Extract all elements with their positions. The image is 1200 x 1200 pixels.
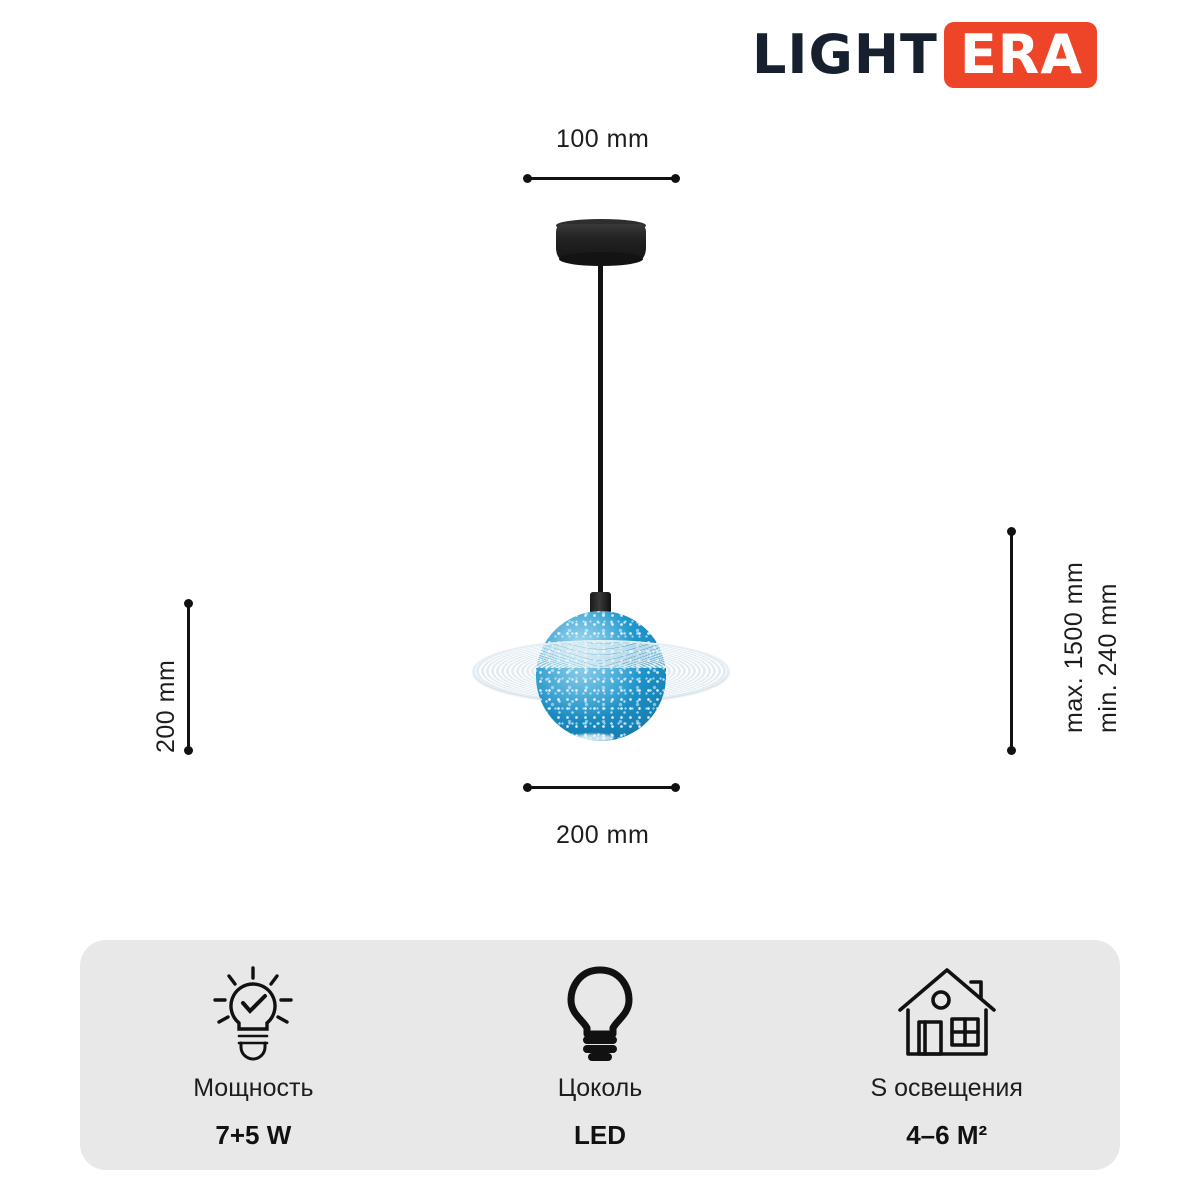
product-illustration xyxy=(0,0,1200,940)
spec-title-area: S освещения xyxy=(870,1074,1022,1103)
bulb-icon xyxy=(557,962,643,1062)
specifications-panel: Мощность 7+5 W Цоколь LED xyxy=(80,940,1120,1170)
spec-value-socket: LED xyxy=(574,1120,626,1151)
suspension-cord xyxy=(598,258,603,603)
spec-item-socket: Цоколь LED xyxy=(427,940,774,1170)
bulb-check-icon xyxy=(205,962,301,1062)
spec-value-area: 4–6 M² xyxy=(906,1120,987,1151)
spec-item-area: S освещения 4–6 M² xyxy=(773,940,1120,1170)
spec-title-socket: Цоколь xyxy=(558,1074,643,1103)
spec-value-power: 7+5 W xyxy=(215,1120,291,1151)
spec-item-power: Мощность 7+5 W xyxy=(80,940,427,1170)
product-spec-sheet: LIGHT ERA 100 mm 200 mm max. 1500 mm min… xyxy=(0,0,1200,1200)
globe-bottom-highlight xyxy=(572,734,614,742)
spec-title-power: Мощность xyxy=(193,1074,313,1103)
globe-front-speckle-texture xyxy=(536,668,666,741)
lamp-globe-front xyxy=(536,668,666,741)
dimension-label-shade-width: 200 mm xyxy=(556,821,649,850)
house-icon xyxy=(895,962,999,1062)
dimension-line-shade-width xyxy=(524,786,679,789)
